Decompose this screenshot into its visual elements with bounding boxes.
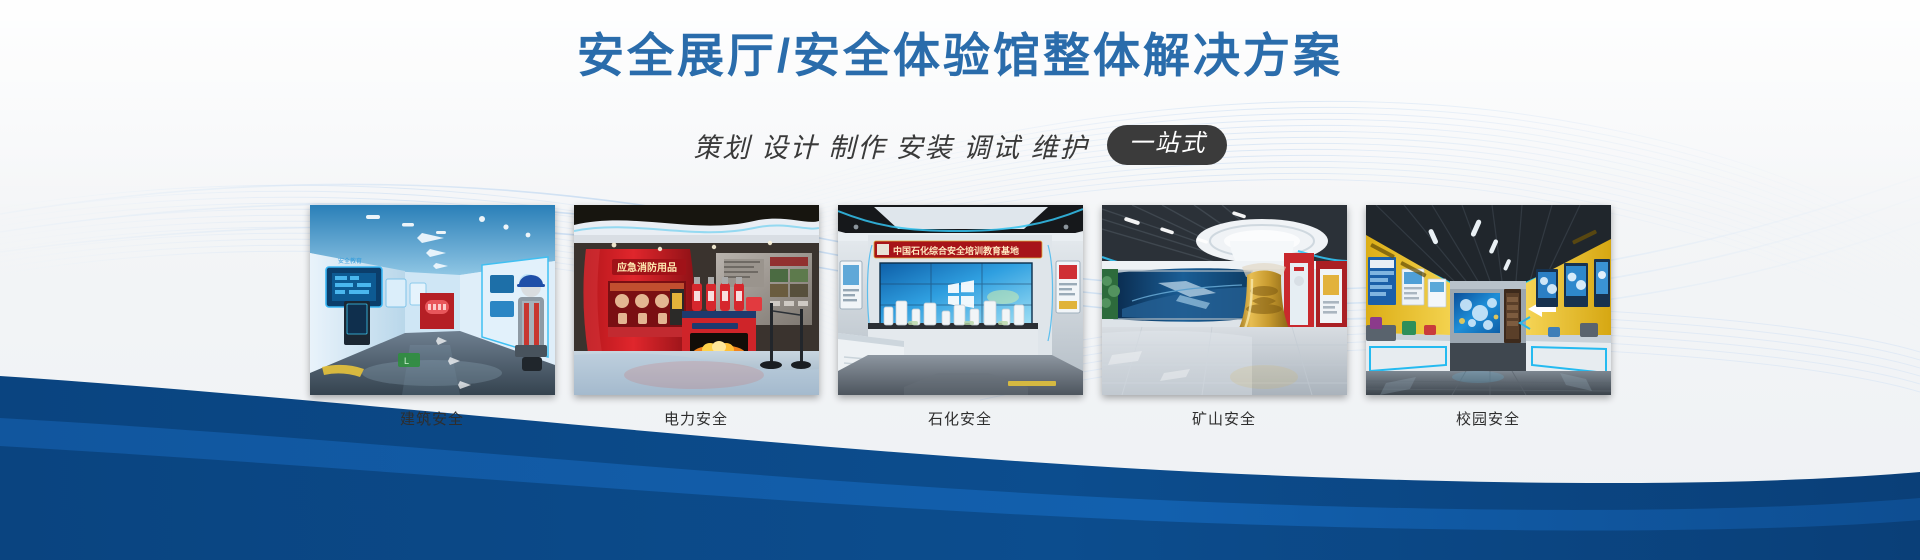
safety-exhibition-banner: 安全展厅/安全体验馆整体解决方案 策划 设计 制作 安装 调试 维护 一站式: [0, 0, 1920, 560]
svg-text:应急消防用品: 应急消防用品: [617, 261, 677, 274]
gallery-caption: 建筑安全: [310, 408, 555, 429]
subtitle-row: 策划 设计 制作 安装 调试 维护 一站式: [0, 125, 1920, 165]
svg-text:安全教育: 安全教育: [338, 257, 362, 265]
one-stop-badge: 一站式: [1107, 125, 1227, 165]
gallery-item-petrochemical[interactable]: 中国石化综合安全培训教育基地: [838, 205, 1083, 429]
gallery-thumb-campus[interactable]: [1366, 205, 1611, 395]
svg-text:L: L: [404, 356, 409, 366]
gallery-thumb-construction[interactable]: 安全教育: [310, 205, 555, 395]
gallery-caption: 校园安全: [1366, 408, 1611, 429]
gallery-caption: 电力安全: [574, 408, 819, 429]
gallery-thumb-mining[interactable]: [1102, 205, 1347, 395]
gallery-item-campus[interactable]: 校园安全: [1366, 205, 1611, 429]
gallery-item-mining[interactable]: 矿山安全: [1102, 205, 1347, 429]
svg-text:中国石化综合安全培训教育基地: 中国石化综合安全培训教育基地: [893, 245, 1019, 256]
gallery-thumb-electric[interactable]: 应急消防用品: [574, 205, 819, 395]
page-title: 安全展厅/安全体验馆整体解决方案: [0, 27, 1920, 86]
gallery-caption: 石化安全: [838, 408, 1083, 429]
gallery-item-electric[interactable]: 应急消防用品: [574, 205, 819, 429]
gallery: 安全教育: [0, 205, 1920, 429]
gallery-thumb-petrochemical[interactable]: 中国石化综合安全培训教育基地: [838, 205, 1083, 395]
gallery-caption: 矿山安全: [1102, 408, 1347, 429]
subtitle-text: 策划 设计 制作 安装 调试 维护: [693, 126, 1089, 165]
gallery-item-construction[interactable]: 安全教育: [310, 205, 555, 429]
